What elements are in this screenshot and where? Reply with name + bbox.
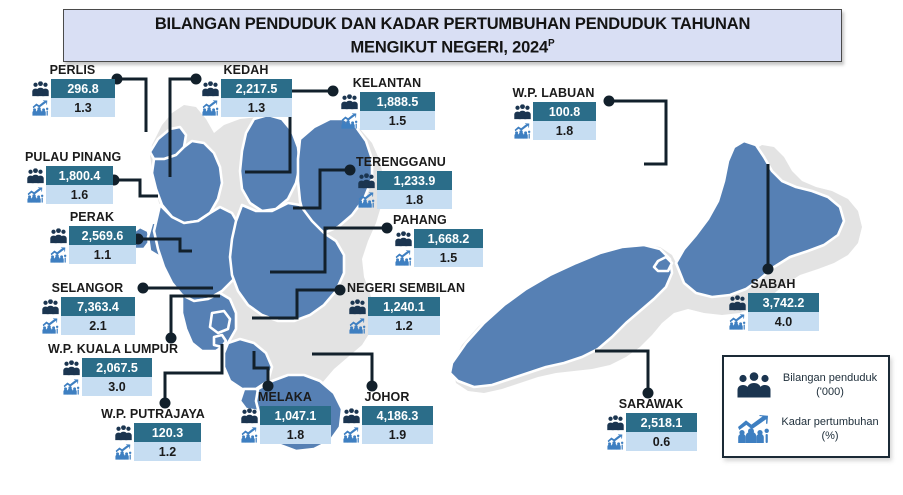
population-value: 100.8 <box>533 102 596 121</box>
population-row: 1,233.9 <box>356 171 452 190</box>
people-group-icon <box>512 102 533 121</box>
growth-value: 1.8 <box>533 121 596 140</box>
population-value: 296.8 <box>51 79 115 98</box>
growth-row: 1.8 <box>356 190 452 209</box>
growth-arrow-people-icon <box>727 312 748 331</box>
state-label-selangor[interactable]: SELANGOR 7,363.4 2.1 <box>40 281 135 335</box>
growth-row: 1.6 <box>25 185 113 204</box>
infographic-root: BILANGAN PENDUDUK DAN KADAR PERTUMBUHAN … <box>0 0 903 495</box>
population-value: 1,888.5 <box>360 92 435 111</box>
population-row: 296.8 <box>30 79 115 98</box>
population-row: 1,047.1 <box>239 406 331 425</box>
people-group-icon <box>730 372 778 398</box>
growth-arrow-people-icon <box>356 190 377 209</box>
state-label-putrajaya[interactable]: W.P. PUTRAJAYA 120.3 1.2 <box>93 407 213 461</box>
growth-arrow-people-icon <box>25 185 46 204</box>
population-row: 1,668.2 <box>393 229 483 248</box>
growth-arrow-people-icon <box>113 442 134 461</box>
population-row: 3,742.2 <box>727 293 819 312</box>
legend-growth-unit: (%) <box>821 430 838 442</box>
population-value: 2,067.5 <box>82 358 152 377</box>
state-name: PERLIS <box>30 63 115 77</box>
population-value: 2,569.6 <box>69 226 136 245</box>
growth-value: 2.1 <box>61 316 135 335</box>
growth-row: 2.1 <box>40 316 135 335</box>
population-value: 120.3 <box>134 423 201 442</box>
growth-arrow-people-icon <box>61 377 82 396</box>
population-row: 7,363.4 <box>40 297 135 316</box>
state-name: JOHOR <box>341 390 433 404</box>
state-label-sabah[interactable]: SABAH 3,742.2 4.0 <box>727 277 819 331</box>
state-label-pahang[interactable]: PAHANG 1,668.2 1.5 <box>393 213 483 267</box>
growth-value: 1.2 <box>368 316 440 335</box>
people-group-icon <box>347 297 368 316</box>
population-row: 2,569.6 <box>48 226 136 245</box>
state-name: PULAU PINANG <box>25 150 113 164</box>
growth-value: 1.3 <box>51 98 115 117</box>
state-name: KEDAH <box>200 63 292 77</box>
growth-value: 1.9 <box>362 425 433 444</box>
people-group-icon <box>113 423 134 442</box>
population-row: 2,518.1 <box>605 413 697 432</box>
growth-arrow-people-icon <box>30 98 51 117</box>
growth-row: 1.8 <box>239 425 331 444</box>
population-value: 2,217.5 <box>221 79 292 98</box>
people-group-icon <box>48 226 69 245</box>
population-value: 1,800.4 <box>46 166 113 185</box>
growth-arrow-people-icon <box>347 316 368 335</box>
people-group-icon <box>30 79 51 98</box>
state-label-kedah[interactable]: KEDAH 2,217.5 1.3 <box>200 63 292 117</box>
title-line-1: BILANGAN PENDUDUK DAN KADAR PERTUMBUHAN … <box>155 15 750 33</box>
people-group-icon <box>727 293 748 312</box>
growth-arrow-people-icon <box>48 245 69 264</box>
growth-row: 1.2 <box>113 442 201 461</box>
state-label-johor[interactable]: JOHOR 4,186.3 1.9 <box>341 390 433 444</box>
growth-arrow-people-icon <box>341 425 362 444</box>
state-name: W.P. PUTRAJAYA <box>93 407 213 421</box>
population-row: 1,800.4 <box>25 166 113 185</box>
growth-arrow-people-icon <box>730 415 778 443</box>
growth-value: 0.6 <box>626 432 697 451</box>
population-value: 1,668.2 <box>414 229 483 248</box>
growth-value: 1.1 <box>69 245 136 264</box>
population-row: 2,067.5 <box>61 358 152 377</box>
population-value: 4,186.3 <box>362 406 433 425</box>
state-label-melaka[interactable]: MELAKA 1,047.1 1.8 <box>239 390 331 444</box>
growth-value: 3.0 <box>82 377 152 396</box>
population-row: 100.8 <box>512 102 596 121</box>
state-shape-sabah <box>676 141 844 297</box>
growth-arrow-people-icon <box>200 98 221 117</box>
growth-row: 1.3 <box>200 98 292 117</box>
state-name: TERENGGANU <box>356 155 452 169</box>
state-label-negeri-sembilan[interactable]: NEGERI SEMBILAN 1,240.1 1.2 <box>347 281 455 335</box>
people-group-icon <box>61 358 82 377</box>
people-group-icon <box>605 413 626 432</box>
population-row: 1,240.1 <box>347 297 440 316</box>
population-row: 120.3 <box>113 423 201 442</box>
growth-value: 1.5 <box>360 111 435 130</box>
population-value: 2,518.1 <box>626 413 697 432</box>
population-row: 2,217.5 <box>200 79 292 98</box>
state-label-kelantan[interactable]: KELANTAN 1,888.5 1.5 <box>339 76 435 130</box>
state-shape-putrajaya <box>214 335 226 347</box>
legend-row-growth: Kadar pertumbuhan (%) <box>730 407 882 451</box>
growth-value: 1.6 <box>46 185 113 204</box>
growth-row: 1.1 <box>48 245 136 264</box>
growth-row: 1.9 <box>341 425 433 444</box>
population-value: 1,047.1 <box>260 406 331 425</box>
people-group-icon <box>339 92 360 111</box>
population-value: 1,240.1 <box>368 297 440 316</box>
state-name: SELANGOR <box>40 281 135 295</box>
people-group-icon <box>25 166 46 185</box>
people-group-icon <box>393 229 414 248</box>
state-label-labuan[interactable]: W.P. LABUAN 100.8 1.8 <box>502 86 605 140</box>
growth-value: 1.8 <box>260 425 331 444</box>
growth-row: 3.0 <box>61 377 152 396</box>
state-name: MELAKA <box>239 390 331 404</box>
legend: Bilangan penduduk ('000) Kadar pertumbuh… <box>722 355 890 458</box>
growth-row: 4.0 <box>727 312 819 331</box>
growth-value: 1.3 <box>221 98 292 117</box>
growth-value: 1.8 <box>377 190 452 209</box>
legend-row-population: Bilangan penduduk ('000) <box>730 363 882 407</box>
population-row: 4,186.3 <box>341 406 433 425</box>
people-group-icon <box>239 406 260 425</box>
state-label-kuala-lumpur[interactable]: W.P. KUALA LUMPUR 2,067.5 3.0 <box>48 342 171 396</box>
title-superscript: P <box>548 38 554 49</box>
growth-arrow-people-icon <box>512 121 533 140</box>
state-name: SABAH <box>727 277 819 291</box>
people-group-icon <box>200 79 221 98</box>
state-label-pulau-pinang[interactable]: PULAU PINANG 1,800.4 1.6 <box>25 150 113 204</box>
state-label-perak[interactable]: PERAK 2,569.6 1.1 <box>48 210 136 264</box>
state-name: KELANTAN <box>339 76 435 90</box>
population-value: 1,233.9 <box>377 171 452 190</box>
state-label-sarawak[interactable]: SARAWAK 2,518.1 0.6 <box>605 397 697 451</box>
growth-value: 1.5 <box>414 248 483 267</box>
growth-arrow-people-icon <box>40 316 61 335</box>
growth-arrow-people-icon <box>605 432 626 451</box>
legend-growth-label: Kadar pertumbuhan <box>781 416 878 428</box>
state-name: W.P. LABUAN <box>502 86 605 100</box>
growth-row: 1.2 <box>347 316 440 335</box>
people-group-icon <box>40 297 61 316</box>
growth-row: 0.6 <box>605 432 697 451</box>
state-label-terengganu[interactable]: TERENGGANU 1,233.9 1.8 <box>356 155 452 209</box>
growth-arrow-people-icon <box>239 425 260 444</box>
population-value: 3,742.2 <box>748 293 819 312</box>
people-group-icon <box>356 171 377 190</box>
state-name: W.P. KUALA LUMPUR <box>48 342 171 356</box>
people-group-icon <box>341 406 362 425</box>
legend-population-label: Bilangan penduduk <box>783 372 877 384</box>
title-line-2: MENGIKUT NEGERI, 2024 <box>351 38 549 56</box>
growth-row: 1.3 <box>30 98 115 117</box>
growth-arrow-people-icon <box>393 248 414 267</box>
population-value: 7,363.4 <box>61 297 135 316</box>
state-label-perlis[interactable]: PERLIS 296.8 1.3 <box>30 63 115 117</box>
state-name: PERAK <box>48 210 136 224</box>
growth-row: 1.5 <box>393 248 483 267</box>
growth-row: 1.5 <box>339 111 435 130</box>
state-name: NEGERI SEMBILAN <box>347 281 455 295</box>
state-name: SARAWAK <box>605 397 697 411</box>
growth-value: 1.2 <box>134 442 201 461</box>
legend-population-unit: ('000) <box>816 386 844 398</box>
growth-row: 1.8 <box>512 121 596 140</box>
growth-arrow-people-icon <box>339 111 360 130</box>
growth-value: 4.0 <box>748 312 819 331</box>
state-shape-kuala-lumpur <box>210 311 230 333</box>
state-name: PAHANG <box>393 213 483 227</box>
population-row: 1,888.5 <box>339 92 435 111</box>
